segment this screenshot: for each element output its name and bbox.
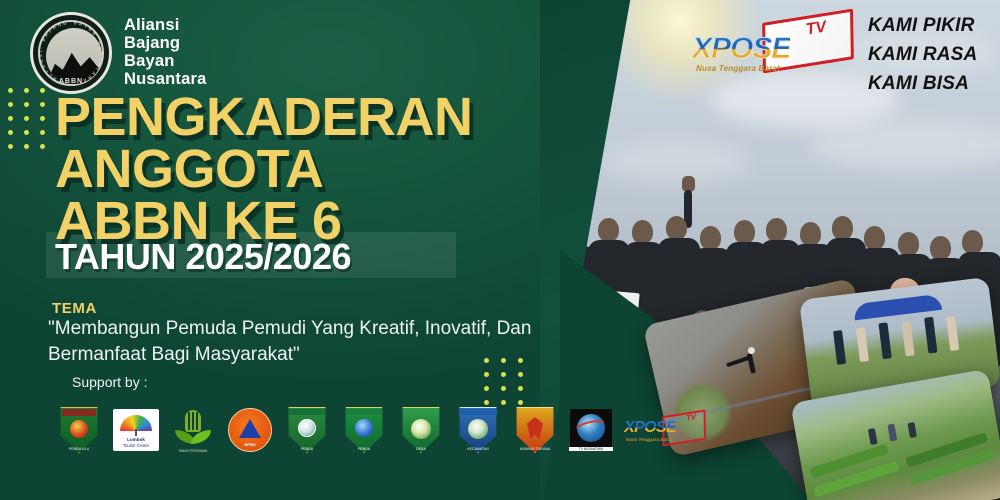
xpose-tv-label: TV [805, 19, 828, 40]
sponsor-label-5: PEMDA [284, 448, 330, 452]
event-year: TAHUN 2025/2026 [55, 236, 351, 278]
event-poster: ABBN ALIANSI BAJANG BAYAN NUSANTARA Alia… [0, 0, 1000, 500]
sponsor-xpose-subtitle: Nusa Tenggara Barat [626, 437, 672, 442]
headline-block: PENGKADERAN ANGGOTA ABBN KE 6 [55, 92, 473, 247]
tagline-line-2: KAMI RASA [868, 41, 977, 70]
brand-line-3: Bayan [124, 53, 207, 71]
dot-grid-left [8, 88, 56, 158]
headline-line-2: ANGGOTA [55, 144, 473, 196]
sponsor-label-9: KARANG TARUNA [512, 448, 558, 452]
pemda-green-crest-2: PEMDA [341, 407, 387, 453]
abbn-circular-emblem: ABBN ALIANSI BAJANG BAYAN NUSANTARA [30, 12, 112, 94]
emblem-ring-text: ALIANSI BAJANG BAYAN NUSANTARA [33, 15, 109, 91]
sponsor-title-2: Lombok [113, 437, 159, 442]
sponsor-xpose-wordmark: XPOSE [624, 420, 676, 436]
kabupaten-lombok-utara-crest: PEMDA KLU [56, 407, 102, 453]
sponsor-subtitle-2: Tourist Center [113, 443, 159, 448]
brand-line-1: Aliansi [124, 17, 207, 35]
sponsor-label-3: DINAS PERTANIAN [166, 449, 220, 453]
bpbd-triangle-logo: BPBD [227, 407, 273, 453]
sponsor-label-7: DESA [398, 448, 444, 452]
xpose-tv-logo: TV XPOSE Nusa Tenggara Barat [690, 18, 855, 80]
desa-green-crest: DESA [398, 407, 444, 453]
tagline-line-1: KAMI PIKIR [868, 12, 977, 41]
brand-line-4: Nusantara [124, 71, 207, 89]
lombok-tourist-center-logo: Lombok Tourist Center [113, 407, 159, 453]
xpose-subtitle: Nusa Tenggara Barat [696, 64, 780, 73]
headline-line-1: PENGKADERAN [55, 92, 473, 144]
brand-line-2: Bajang [124, 35, 207, 53]
sponsor-logo-row: PEMDA KLU Lombok Tourist Center DINAS PE… [56, 404, 636, 456]
tagline-block: KAMI PIKIR KAMI RASA KAMI BISA [868, 12, 977, 99]
brand-name: Aliansi Bajang Bayan Nusantara [124, 17, 207, 88]
xpose-tv-sponsor-logo: TV XPOSE Nusa Tenggara Barat [624, 410, 706, 450]
pertanian-leaf-grain-logo: DINAS PERTANIAN [170, 407, 216, 453]
sponsor-xpose-tv-label: TV [685, 412, 697, 422]
tagline-line-3: KAMI BISA [868, 70, 977, 99]
sponsor-label-6: PEMDA [341, 448, 387, 452]
pemda-green-crest-1: PEMDA [284, 407, 330, 453]
xpose-wordmark: XPOSE [692, 34, 790, 64]
karang-taruna-crest: KARANG TARUNA [512, 407, 558, 453]
sponsor-label-8: KECAMATAN [455, 448, 501, 452]
sponsor-label-10: TV NUSANTARA [569, 447, 613, 451]
tema-text: "Membangun Pemuda Pemudi Yang Kreatif, I… [48, 316, 568, 368]
brand-lockup: ABBN ALIANSI BAJANG BAYAN NUSANTARA Alia… [30, 12, 207, 94]
tema-label: TEMA [52, 300, 97, 317]
tv-globe-station-logo: TV NUSANTARA [569, 407, 613, 453]
sponsor-label-4: BPBD [227, 442, 273, 447]
kecamatan-blue-crest: KECAMATAN [455, 407, 501, 453]
sponsor-label-1: PEMDA KLU [56, 448, 102, 452]
support-by-label: Support by : [72, 374, 148, 390]
